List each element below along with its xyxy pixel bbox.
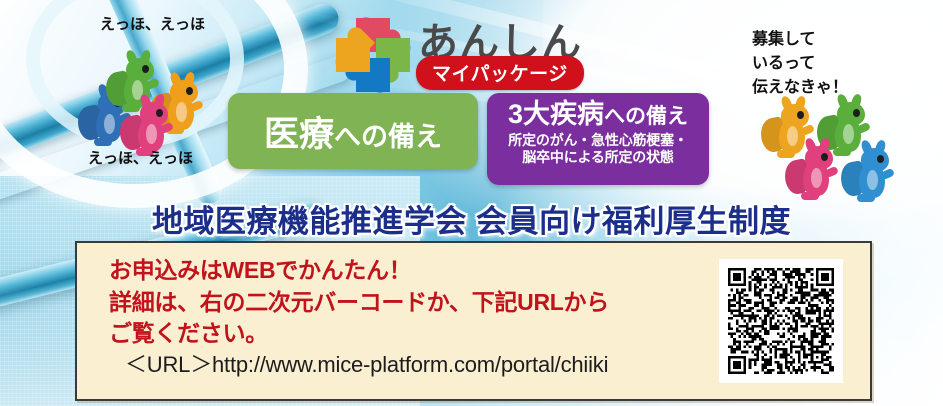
feature-box-medical: 医療への備え: [228, 93, 478, 169]
feature-box-medical-main: 医療: [264, 115, 334, 154]
caption-right-line3: 伝えなきゃ！: [752, 76, 848, 100]
qr-code-icon: [719, 259, 843, 383]
feature-box-diseases-subtitle-line1: 所定のがん・急性心筋梗塞・: [487, 132, 709, 149]
mascot-group-left: [84, 52, 214, 157]
promo-banner: えっほ、えっほ えっほ、えっほ 募集して いるって 伝えなきゃ！ あんしん マイ…: [0, 0, 943, 406]
caption-left-top: えっほ、えっほ: [100, 14, 205, 36]
brand-badge: マイパッケージ: [416, 56, 584, 90]
feature-box-diseases-suffix: への備え: [604, 105, 688, 128]
feature-box-diseases-main: 3大疾病: [508, 99, 604, 129]
caption-right-line2: いるって: [752, 52, 848, 76]
caption-right-line1: 募集して: [752, 28, 848, 52]
headline: 地域医療機能推進学会 会員向け福利厚生制度: [0, 196, 943, 241]
feature-box-diseases-subtitle-line2: 脳卒中による所定の状態: [487, 149, 709, 166]
call-to-action-panel: お申込みはWEBでかんたん！ 詳細は、右の二次元バーコードか、下記URLから ご…: [75, 241, 872, 401]
cta-text: お申込みはWEBでかんたん！ 詳細は、右の二次元バーコードか、下記URLから ご…: [109, 255, 609, 350]
cta-line3: ご覧ください。: [109, 318, 609, 350]
feature-box-medical-suffix: への備え: [334, 122, 442, 152]
cta-line1: お申込みはWEBでかんたん！: [109, 255, 609, 287]
cta-line2: 詳細は、右の二次元バーコードか、下記URLから: [109, 287, 609, 319]
four-hearts-icon: [336, 20, 410, 90]
caption-right: 募集して いるって 伝えなきゃ！: [752, 28, 848, 100]
mascot-group-right: [765, 100, 905, 205]
heart-icon-left: [336, 38, 370, 72]
cta-url[interactable]: ＜URL＞http://www.mice-platform.com/portal…: [125, 347, 608, 379]
feature-box-diseases-title: 3大疾病への備え: [487, 99, 709, 130]
feature-box-three-major-diseases: 3大疾病への備え 所定のがん・急性心筋梗塞・ 脳卒中による所定の状態: [487, 93, 709, 185]
feature-box-diseases-subtitle: 所定のがん・急性心筋梗塞・ 脳卒中による所定の状態: [487, 132, 709, 166]
caption-left-bottom: えっほ、えっほ: [88, 148, 193, 170]
brand-logo: あんしん マイパッケージ: [336, 12, 586, 94]
feature-box-medical-title: 医療への備え: [264, 106, 442, 157]
